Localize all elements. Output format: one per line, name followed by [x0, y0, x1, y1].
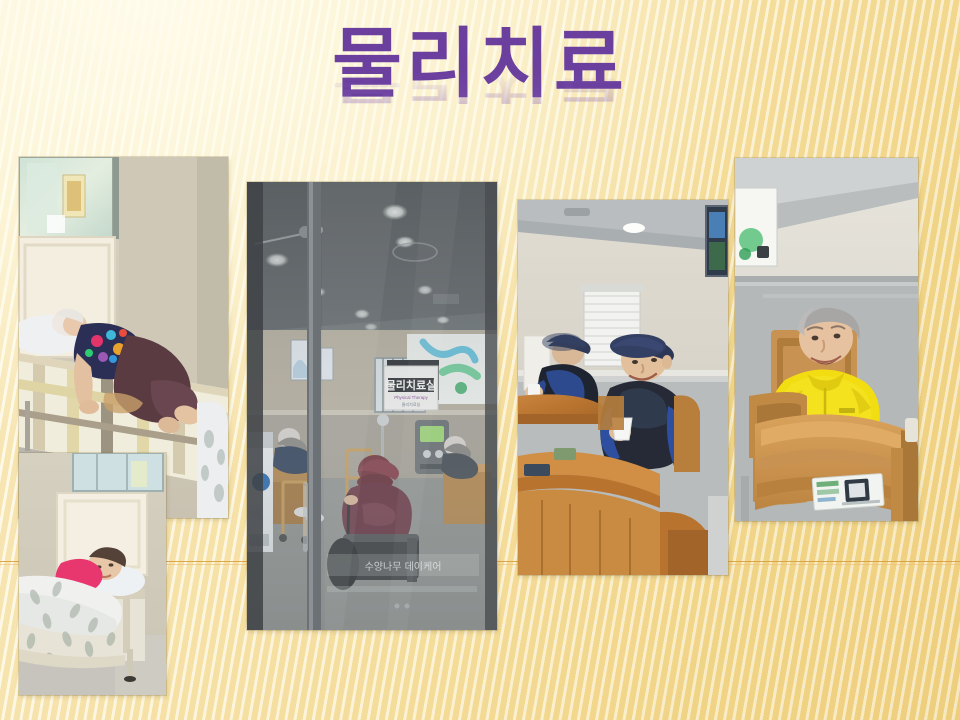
slide-title-reflection: 물리치료: [0, 60, 960, 104]
photo-woman-yellow-image: [735, 158, 918, 521]
photo-therapy-room[interactable]: 물리치료실 Physical Therapy 물리치료실: [247, 182, 497, 630]
door-decal-text: 수양나무 데이케어: [365, 561, 442, 573]
photo-therapy-room-image: 물리치료실 Physical Therapy 물리치료실: [247, 182, 497, 630]
photo-men-seated-image: [518, 200, 728, 575]
photo-resting-bed-image: [19, 453, 166, 695]
photo-woman-yellow[interactable]: [735, 158, 918, 521]
slide-title-block: 물리치료 물리치료: [0, 26, 960, 180]
slide-canvas: 물리치료 물리치료: [0, 0, 960, 720]
photo-men-seated[interactable]: [518, 200, 728, 575]
photo-resting-bed[interactable]: [19, 453, 166, 695]
